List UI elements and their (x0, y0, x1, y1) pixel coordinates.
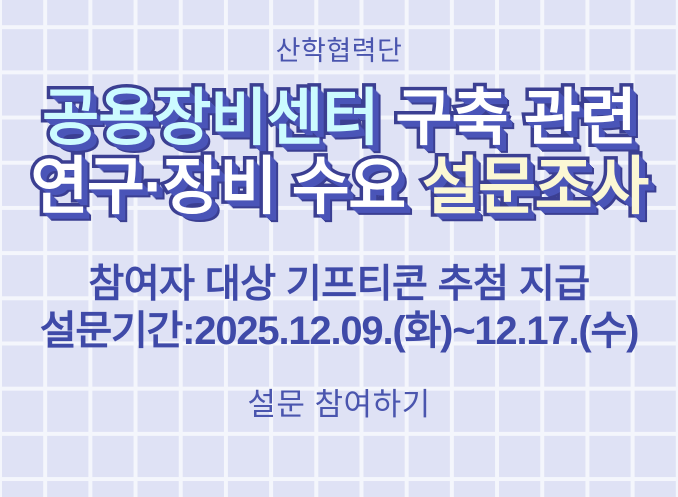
banner-content: 산학협력단 공용장비센터구축 관련 연구·장비 수요설문조사 참여자 대상 기프… (0, 0, 678, 497)
hero-title: 공용장비센터구축 관련 연구·장비 수요설문조사 (30, 86, 647, 222)
hero-segment-construction: 구축 관련 (395, 86, 635, 152)
hero-segment-center-name: 공용장비센터 (42, 86, 378, 152)
hero-segment-survey: 설문조사 (422, 154, 648, 221)
survey-period-text: 설문기간:2025.12.09.(화)~12.17.(수) (40, 310, 638, 353)
incentive-text: 참여자 대상 기프티콘 추첨 지급 (40, 264, 638, 306)
survey-promo-banner: 산학협력단 공용장비센터구축 관련 연구·장비 수요설문조사 참여자 대상 기프… (0, 0, 678, 497)
details-block: 참여자 대상 기프티콘 추첨 지급 설문기간:2025.12.09.(화)~12… (40, 264, 638, 353)
hero-segment-demand: 연구·장비 수요 (30, 154, 404, 221)
survey-participate-link[interactable]: 설문 참여하기 (247, 389, 430, 420)
hero-title-line-2: 연구·장비 수요설문조사 (30, 154, 647, 221)
hero-title-line-1: 공용장비센터구축 관련 (30, 86, 647, 152)
organization-name: 산학협력단 (276, 38, 403, 65)
